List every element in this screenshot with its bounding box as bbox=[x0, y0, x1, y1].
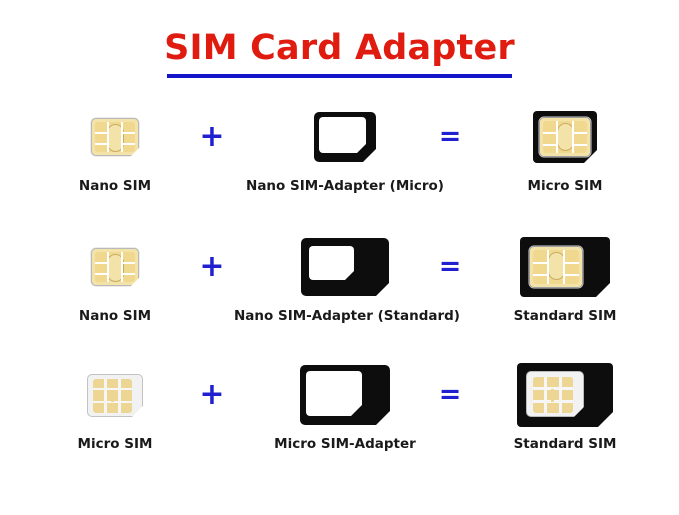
standard-sim-result-label: Standard SIM bbox=[470, 308, 660, 324]
standard-sim-result-label: Standard SIM bbox=[470, 436, 660, 452]
nano-sim-center-oval bbox=[548, 252, 565, 280]
nano-sim-pad-line bbox=[573, 132, 587, 134]
nano-sim-corner-notch bbox=[130, 277, 140, 287]
standard-sim-result-card bbox=[520, 237, 610, 297]
result-inset-sim bbox=[529, 246, 583, 288]
nano-sim-contact-pads bbox=[543, 121, 587, 153]
micro-sim-result-art bbox=[470, 100, 660, 174]
result-corner-cut bbox=[596, 283, 610, 297]
nano-sim-pad-line bbox=[543, 144, 557, 146]
nano-sim-pad-divider bbox=[556, 121, 558, 153]
nano-sim-art bbox=[40, 230, 190, 304]
nano-sim-pad-line bbox=[564, 262, 579, 264]
row1-plus-operator: + bbox=[190, 100, 234, 212]
standard-sim-result-art bbox=[470, 358, 660, 432]
micro-sim-pad-gap bbox=[559, 377, 562, 413]
nano-sim-art bbox=[40, 100, 190, 174]
micro-sim-corner-notch bbox=[573, 406, 585, 418]
nano-sim-pad-line bbox=[564, 274, 579, 276]
nano-sim-pad-line bbox=[543, 132, 557, 134]
nano-sim-pad-divider bbox=[107, 122, 109, 152]
nano-sim-center-oval bbox=[557, 123, 574, 151]
nano-sim-pad-line bbox=[533, 274, 548, 276]
row2-plus-operator: + bbox=[190, 230, 234, 342]
nano-sim-card bbox=[91, 248, 139, 286]
nano-sim-pad-divider bbox=[547, 250, 549, 284]
adapter-corner-cut bbox=[376, 283, 389, 296]
micro-sim-pad-gap bbox=[118, 388, 132, 391]
nano-sim-pad-line bbox=[122, 143, 135, 145]
micro-sim-contact-plate bbox=[93, 379, 132, 413]
adapter-window-corner-cut bbox=[345, 271, 354, 280]
micro-sim-pad-gap bbox=[559, 387, 573, 390]
micro-sim-pad-gap bbox=[104, 379, 107, 413]
nano-sim-pad-line bbox=[122, 132, 135, 134]
nano-sim-inside-adapter bbox=[529, 246, 583, 288]
title-block: SIM Card Adapter bbox=[0, 28, 679, 78]
micro-sim-pad-bridge bbox=[551, 389, 554, 402]
nano-sim-pad-line bbox=[122, 273, 135, 275]
nano-sim-card bbox=[91, 118, 139, 156]
micro-sim-result-label: Micro SIM bbox=[470, 178, 660, 194]
nano-sim-contact-pads bbox=[533, 250, 579, 284]
micro-sim-adapter bbox=[300, 365, 390, 425]
micro-sim-pad-gap bbox=[533, 387, 547, 390]
nano-sim-adapter-micro bbox=[314, 112, 376, 162]
micro-sim-contact-plate bbox=[533, 377, 573, 413]
micro-sim-pad-gap bbox=[533, 400, 547, 403]
row3-micro-sim-item: Micro SIM bbox=[40, 358, 190, 470]
micro-sim-pad-gap bbox=[93, 388, 107, 391]
micro-sim-pad-gap bbox=[544, 377, 547, 413]
nano-sim-label: Nano SIM bbox=[40, 308, 190, 324]
micro-sim-inside-adapter bbox=[526, 371, 584, 417]
adapter-window-corner-cut bbox=[351, 405, 362, 416]
row2-nano-sim-item: Nano SIM bbox=[40, 230, 190, 342]
result-corner-cut bbox=[584, 150, 597, 163]
result-inset-sim bbox=[526, 371, 584, 417]
row1-result-item: Micro SIM bbox=[470, 100, 660, 212]
nano-sim-corner-notch bbox=[130, 147, 140, 157]
standard-sim-result-art bbox=[470, 230, 660, 304]
nano-sim-pad-line bbox=[573, 144, 587, 146]
row-nano-to-micro: Nano SIM + Nano SIM-Adapter (Micro) = bbox=[0, 100, 679, 212]
micro-sim-pad-gap bbox=[118, 379, 121, 413]
nano-sim-label: Nano SIM bbox=[40, 178, 190, 194]
row1-nano-sim-item: Nano SIM bbox=[40, 100, 190, 212]
nano-sim-pad-divider bbox=[572, 121, 574, 153]
row3-plus-operator: + bbox=[190, 358, 234, 470]
micro-sim-pad-bridge bbox=[111, 390, 114, 402]
standard-sim-result-card bbox=[517, 363, 613, 427]
plus-icon: + bbox=[190, 100, 234, 174]
plus-icon: + bbox=[190, 358, 234, 432]
row2-result-item: Standard SIM bbox=[470, 230, 660, 342]
row3-result-item: Standard SIM bbox=[470, 358, 660, 470]
page-title: SIM Card Adapter bbox=[0, 28, 679, 68]
micro-sim-pad-gap bbox=[93, 401, 107, 404]
adapter-corner-cut bbox=[376, 411, 390, 425]
plus-icon: + bbox=[190, 230, 234, 304]
micro-sim-pad-gap bbox=[559, 400, 573, 403]
nano-sim-pad-line bbox=[533, 262, 548, 264]
nano-sim-pad-divider bbox=[121, 252, 123, 282]
result-corner-cut bbox=[598, 412, 613, 427]
micro-sim-pad-gap bbox=[118, 401, 132, 404]
nano-sim-pad-divider bbox=[107, 252, 109, 282]
nano-sim-pad-divider bbox=[121, 122, 123, 152]
micro-sim-result-card bbox=[533, 111, 597, 163]
micro-sim-art bbox=[40, 358, 190, 432]
micro-sim-label: Micro SIM bbox=[40, 436, 190, 452]
title-underline-rule bbox=[167, 74, 512, 78]
row-nano-to-standard: Nano SIM + Nano SIM-Adapter (Standard) = bbox=[0, 230, 679, 342]
nano-sim-pad-line bbox=[122, 262, 135, 264]
nano-sim-pad-divider bbox=[563, 250, 565, 284]
adapter-corner-cut bbox=[363, 149, 376, 162]
row-micro-to-standard: Micro SIM + Micro SIM-Adapter = bbox=[0, 358, 679, 470]
nano-sim-adapter-standard bbox=[301, 238, 389, 296]
micro-sim-corner-notch bbox=[132, 405, 144, 417]
micro-sim-card bbox=[87, 374, 143, 417]
